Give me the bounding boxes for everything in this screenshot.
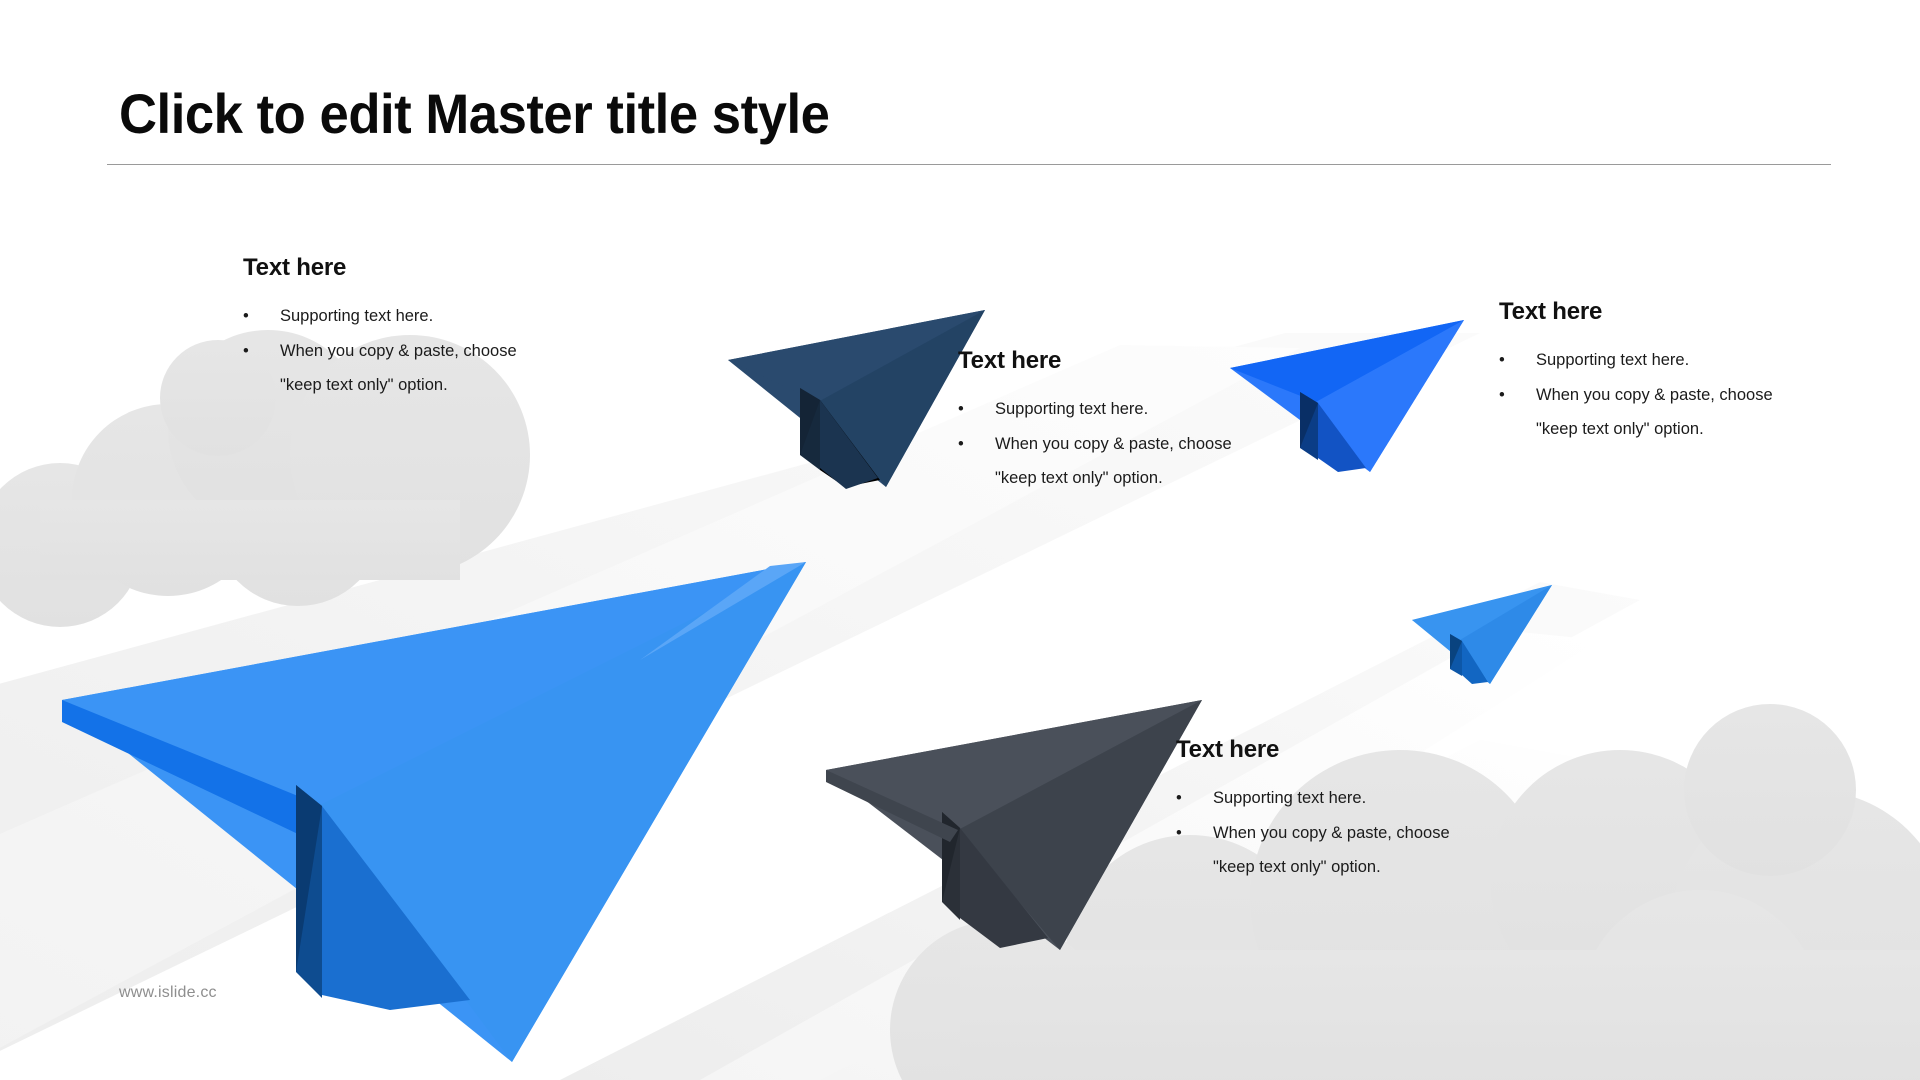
text-block-2-heading[interactable]: Text here [958,347,1232,375]
bullet-line-2: "keep text only" option. [995,470,1232,487]
bullet-line-2: "keep text only" option. [280,377,517,394]
text-block-4-heading[interactable]: Text here [1176,736,1450,764]
list-item[interactable]: • Supporting text here. [958,401,1232,418]
page-title[interactable]: Click to edit Master title style [119,85,829,144]
text-block-1-heading[interactable]: Text here [243,254,517,282]
list-item[interactable]: • When you copy & paste, choose "keep te… [1499,387,1773,438]
title-divider [107,164,1831,165]
bullet-glyph: • [243,343,249,360]
bullet-line-1: Supporting text here. [995,400,1148,418]
text-block-3-bullet-list: • Supporting text here. • When you copy … [1499,352,1773,438]
text-block-3-heading[interactable]: Text here [1499,298,1773,326]
bullet-line-1: When you copy & paste, choose [1536,386,1773,404]
slide-background-artwork [0,0,1920,1080]
text-block-2[interactable]: Text here • Supporting text here. • When… [958,347,1232,505]
bullet-line-2: "keep text only" option. [1536,421,1773,438]
text-block-1-bullet-list: • Supporting text here. • When you copy … [243,308,517,394]
bullet-line-1: Supporting text here. [280,307,433,325]
bullet-line-1: Supporting text here. [1213,789,1366,807]
bullet-line-1: When you copy & paste, choose [280,342,517,360]
slide-canvas: Click to edit Master title style Text he… [0,0,1920,1080]
text-block-4[interactable]: Text here • Supporting text here. • When… [1176,736,1450,894]
text-block-4-bullet-list: • Supporting text here. • When you copy … [1176,790,1450,876]
bullet-glyph: • [1176,825,1182,842]
bullet-glyph: • [958,401,964,418]
bullet-line-1: When you copy & paste, choose [995,435,1232,453]
list-item[interactable]: • Supporting text here. [1176,790,1450,807]
text-block-1[interactable]: Text here • Supporting text here. • When… [243,254,517,412]
list-item[interactable]: • When you copy & paste, choose "keep te… [958,436,1232,487]
list-item[interactable]: • When you copy & paste, choose "keep te… [1176,825,1450,876]
bullet-glyph: • [1499,352,1505,369]
bullet-line-2: "keep text only" option. [1213,859,1450,876]
bullet-glyph: • [1499,387,1505,404]
watermark-text: www.islide.cc [119,984,217,1002]
list-item[interactable]: • When you copy & paste, choose "keep te… [243,343,517,394]
bullet-glyph: • [1176,790,1182,807]
list-item[interactable]: • Supporting text here. [243,308,517,325]
list-item[interactable]: • Supporting text here. [1499,352,1773,369]
text-block-3[interactable]: Text here • Supporting text here. • When… [1499,298,1773,456]
bullet-glyph: • [243,308,249,325]
bullet-line-1: Supporting text here. [1536,351,1689,369]
text-block-2-bullet-list: • Supporting text here. • When you copy … [958,401,1232,487]
bullet-glyph: • [958,436,964,453]
bullet-line-1: When you copy & paste, choose [1213,824,1450,842]
